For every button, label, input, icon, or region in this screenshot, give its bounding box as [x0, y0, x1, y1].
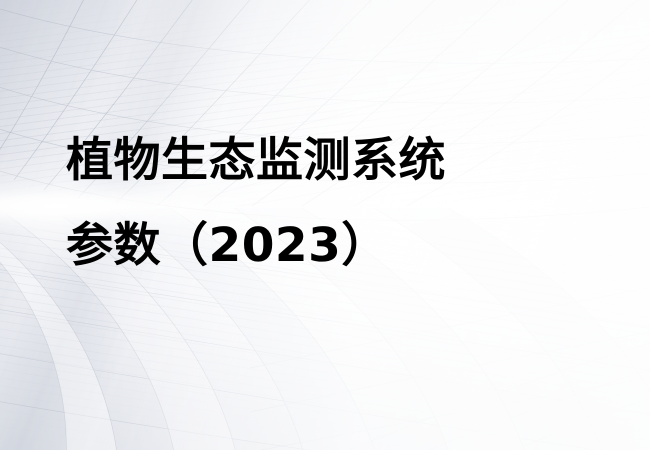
slide-title-line-2: 参数（2023） — [66, 203, 626, 288]
slide-title-block: 植物生态监测系统 参数（2023） — [66, 118, 626, 288]
slide-title-line-1: 植物生态监测系统 — [66, 118, 626, 203]
title-slide: 植物生态监测系统 参数（2023） — [0, 0, 650, 450]
